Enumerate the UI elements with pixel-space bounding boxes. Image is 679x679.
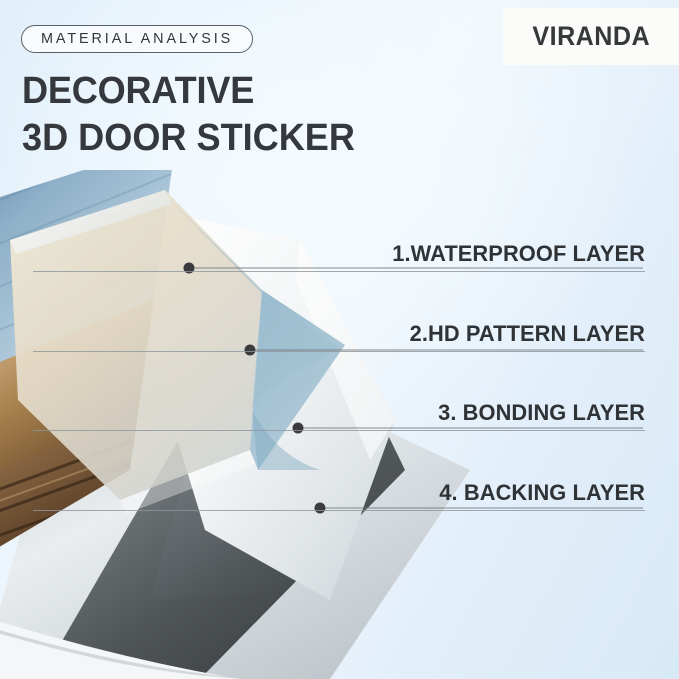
- category-badge: MATERIAL ANALYSIS: [21, 25, 253, 53]
- brand-logo: VIRANDA: [503, 8, 679, 65]
- layer-label-backing: 4. BACKING LAYER: [33, 480, 645, 511]
- layer-label-waterproof-rule: [33, 271, 645, 272]
- layer-label-bonding-rule: [33, 430, 645, 431]
- page-title-line-1: DECORATIVE: [22, 68, 355, 115]
- layer-label-hd-pattern: 2.HD PATTERN LAYER: [33, 321, 645, 352]
- layer-label-hd-pattern-rule: [33, 351, 645, 352]
- page-title-line-2: 3D DOOR STICKER: [22, 115, 355, 162]
- layer-label-waterproof-text: 1.WATERPROOF LAYER: [51, 241, 645, 267]
- category-badge-label: MATERIAL ANALYSIS: [41, 31, 233, 47]
- page-title: DECORATIVE 3D DOOR STICKER: [22, 68, 355, 162]
- material-analysis-infographic: MATERIAL ANALYSIS VIRANDA DECORATIVE 3D …: [0, 0, 679, 679]
- layer-label-bonding: 3. BONDING LAYER: [33, 400, 645, 431]
- layer-label-waterproof: 1.WATERPROOF LAYER: [33, 241, 645, 272]
- layer-label-backing-text: 4. BACKING LAYER: [51, 480, 645, 506]
- layer-label-backing-rule: [33, 510, 645, 511]
- brand-name: VIRANDA: [532, 21, 650, 52]
- layer-label-bonding-text: 3. BONDING LAYER: [51, 400, 645, 426]
- layer-label-hd-pattern-text: 2.HD PATTERN LAYER: [51, 321, 645, 347]
